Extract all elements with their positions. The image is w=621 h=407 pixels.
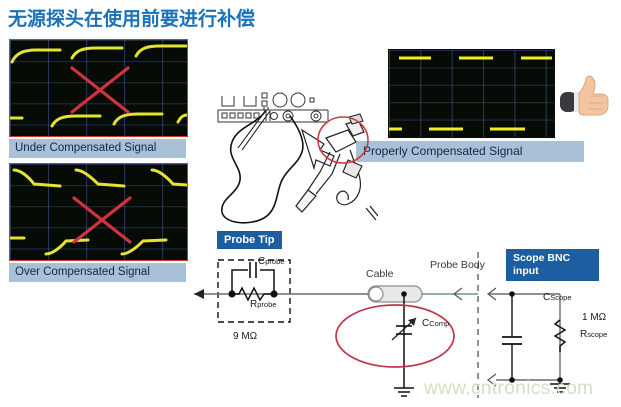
scope-bnc-line2: input [513, 265, 539, 277]
c-probe-label: Cprobe [258, 256, 284, 267]
watermark: www.cntronics.com [424, 378, 593, 400]
probe-tip-label: Probe Tip [217, 231, 282, 249]
caption-properly-compensated: Properly Compensated Signal [356, 141, 584, 162]
scope-screen-over-compensated [9, 163, 188, 261]
thumbs-up-icon [560, 72, 616, 120]
scope-resistance-value: 1 MΩ [582, 312, 606, 323]
cable-label: Cable [366, 268, 393, 280]
waveform-properly-compensated [389, 50, 554, 137]
r-scope-label: Rscope [580, 329, 607, 340]
r-probe-label: Rprobe [250, 299, 276, 310]
r-probe-sub: probe [257, 300, 276, 309]
waveform-under-compensated [10, 40, 187, 136]
caption-under-compensated: Under Compensated Signal [9, 139, 186, 158]
scope-bnc-line1: Scope BNC [513, 252, 570, 264]
probe-resistance-value: 9 MΩ [233, 331, 257, 342]
c-scope-label: CScope [543, 292, 572, 303]
probe-body-label: Probe Body [430, 259, 485, 271]
c-probe-sub: probe [265, 257, 284, 266]
c-scope-sub: Scope [550, 293, 571, 302]
c-comp-sub: Comp [429, 319, 449, 328]
scope-screen-under-compensated [9, 39, 188, 137]
scope-screen-properly-compensated [388, 49, 555, 138]
slide-canvas: 无源探头在使用前要进行补偿 Under Compensated Signal [0, 0, 621, 407]
probe-adjustment-illustration [198, 80, 378, 230]
scope-bnc-input-label: Scope BNC input [506, 249, 599, 281]
waveform-over-compensated [10, 164, 187, 260]
page-title: 无源探头在使用前要进行补偿 [8, 4, 255, 31]
c-comp-label: CComp [422, 318, 449, 329]
caption-over-compensated: Over Compensated Signal [9, 263, 186, 282]
r-scope-sub: scope [587, 330, 607, 339]
